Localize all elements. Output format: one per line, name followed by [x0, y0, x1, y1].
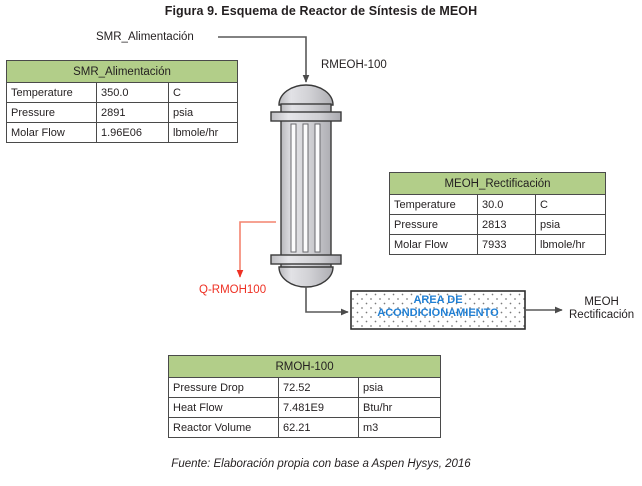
cell-label: Heat Flow	[169, 398, 279, 418]
energy-stream-label: Q-RMOH100	[199, 284, 266, 296]
reactor-tag-label: RMEOH-100	[321, 59, 387, 71]
table-row: Molar Flow 7933 lbmole/hr	[390, 235, 606, 255]
table-row: Temperature 350.0 C	[7, 83, 238, 103]
table-row: Pressure 2891 psia	[7, 103, 238, 123]
table-smr-feed-title: SMR_Alimentación	[7, 61, 238, 83]
table-row: Pressure Drop 72.52 psia	[169, 378, 441, 398]
cell-label: Molar Flow	[390, 235, 478, 255]
table-row: Molar Flow 1.96E06 lbmole/hr	[7, 123, 238, 143]
table-rmoh-100: RMOH-100 Pressure Drop 72.52 psia Heat F…	[168, 355, 441, 438]
cell-unit: C	[536, 195, 606, 215]
table-row: Heat Flow 7.481E9 Btu/hr	[169, 398, 441, 418]
cell-value: 2813	[478, 215, 536, 235]
cell-value: 2891	[97, 103, 169, 123]
figure-source: Fuente: Elaboración propia con base a As…	[0, 458, 642, 470]
table-meoh-rectificacion-title: MEOH_Rectificación	[390, 173, 606, 195]
cell-label: Temperature	[7, 83, 97, 103]
cell-unit: lbmole/hr	[536, 235, 606, 255]
cell-label: Reactor Volume	[169, 418, 279, 438]
product-stream-line2: Rectificación	[569, 309, 634, 322]
table-row: Temperature 30.0 C	[390, 195, 606, 215]
table-meoh-rectificacion: MEOH_Rectificación Temperature 30.0 C Pr…	[389, 172, 606, 255]
product-outlet-line	[306, 287, 348, 312]
table-smr-feed: SMR_Alimentación Temperature 350.0 C Pre…	[6, 60, 238, 143]
reactor-vessel	[271, 85, 341, 287]
cell-value: 7.481E9	[279, 398, 359, 418]
table-row: Pressure 2813 psia	[390, 215, 606, 235]
cell-unit: m3	[359, 418, 441, 438]
cell-label: Molar Flow	[7, 123, 97, 143]
cell-value: 72.52	[279, 378, 359, 398]
cell-label: Pressure Drop	[169, 378, 279, 398]
conditioning-area-box	[351, 291, 525, 329]
figure-canvas: Figura 9. Esquema de Reactor de Síntesis…	[0, 0, 642, 486]
cell-label: Pressure	[390, 215, 478, 235]
table-rmoh-100-title: RMOH-100	[169, 356, 441, 378]
cell-value: 1.96E06	[97, 123, 169, 143]
cell-label: Pressure	[7, 103, 97, 123]
cell-value: 350.0	[97, 83, 169, 103]
table-row: Reactor Volume 62.21 m3	[169, 418, 441, 438]
cell-unit: psia	[359, 378, 441, 398]
cell-unit: psia	[169, 103, 238, 123]
cell-unit: Btu/hr	[359, 398, 441, 418]
cell-value: 62.21	[279, 418, 359, 438]
cell-value: 7933	[478, 235, 536, 255]
cell-label: Temperature	[390, 195, 478, 215]
cell-unit: C	[169, 83, 238, 103]
cell-unit: psia	[536, 215, 606, 235]
product-stream-line1: MEOH	[569, 296, 634, 309]
cell-value: 30.0	[478, 195, 536, 215]
cell-unit: lbmole/hr	[169, 123, 238, 143]
energy-stream-line	[240, 222, 276, 277]
product-stream-label: MEOH Rectificación	[569, 296, 634, 322]
feed-stream-label: SMR_Alimentación	[96, 31, 194, 43]
